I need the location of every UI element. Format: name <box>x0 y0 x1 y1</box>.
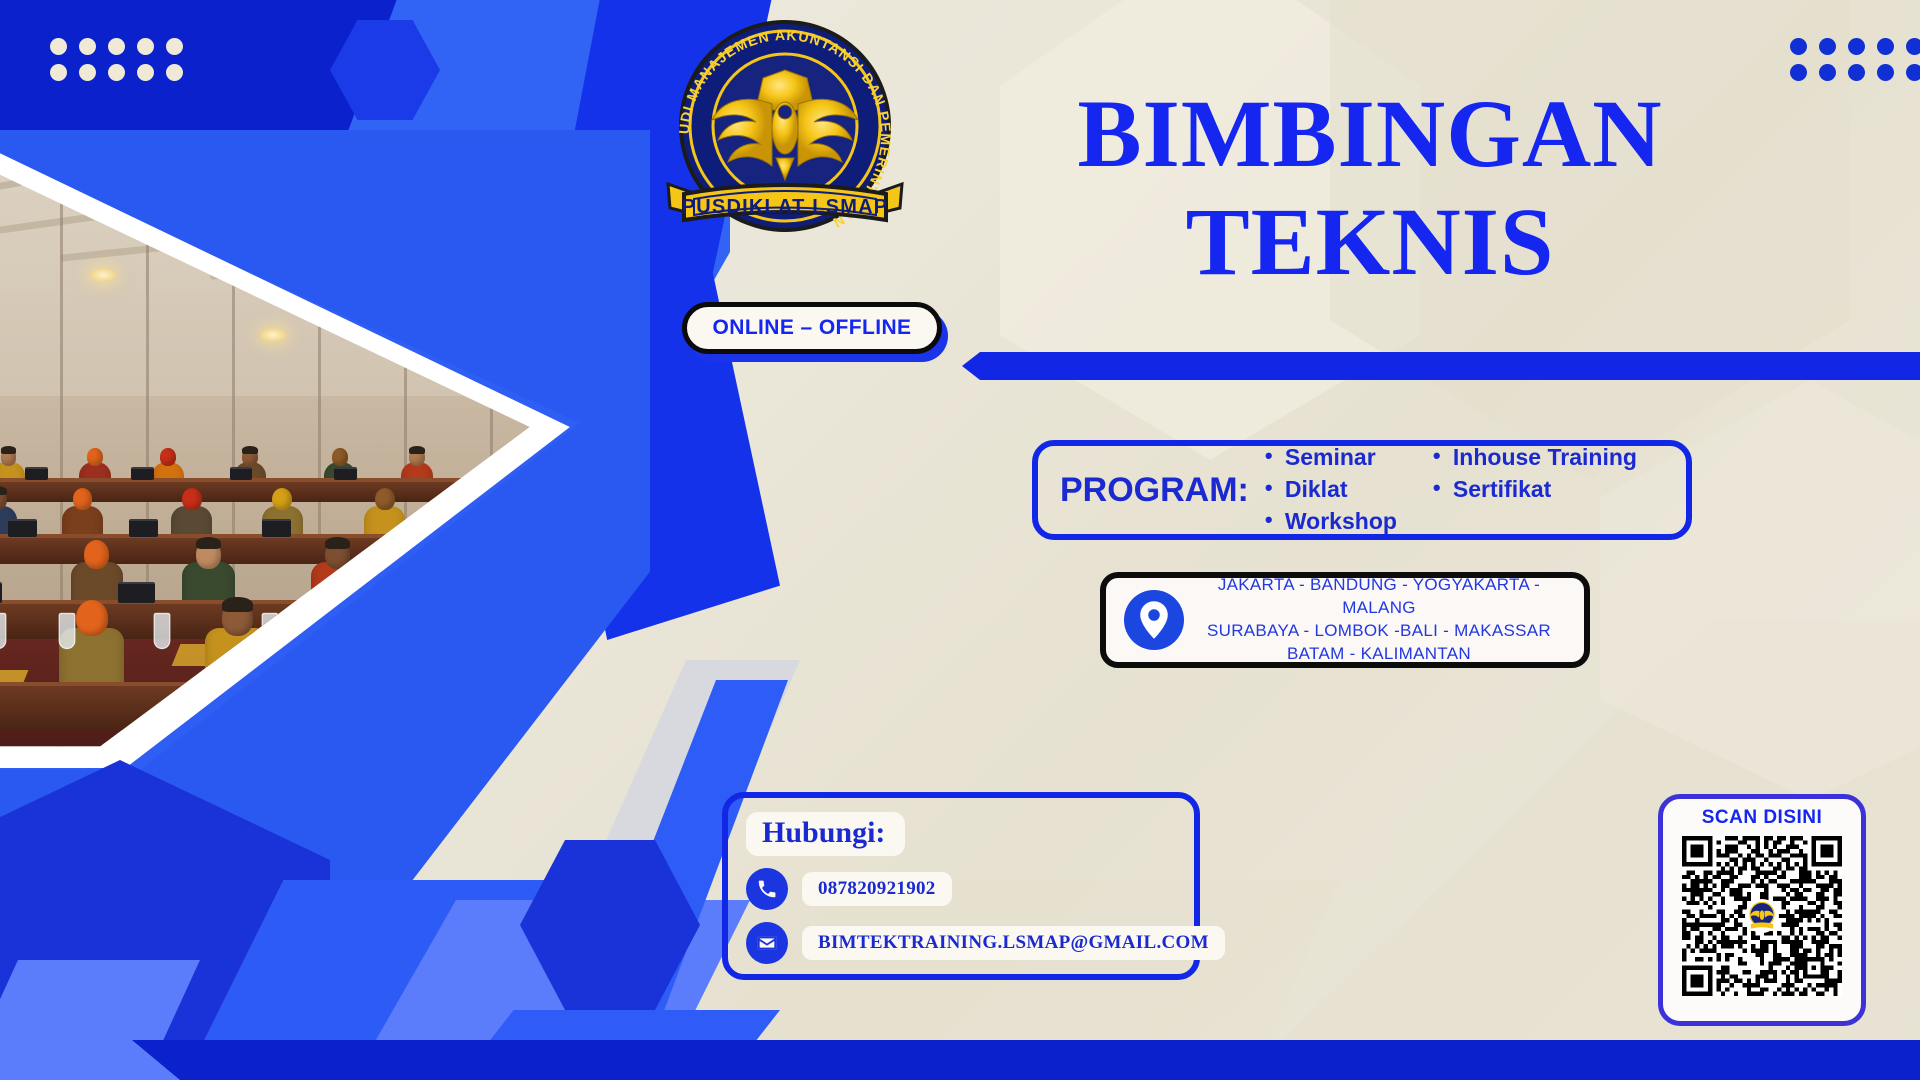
poster-canvas: LEMBAGA STUDI MANAJEMEN AKUNTANSI DAN PE… <box>0 0 1920 1080</box>
laptop <box>0 582 2 604</box>
pusdiklat-lsmap-logo: LEMBAGA STUDI MANAJEMEN AKUNTANSI DAN PE… <box>650 8 920 238</box>
program-item: Workshop <box>1265 506 1397 538</box>
dot-grid-left <box>50 38 183 81</box>
program-column-1: Seminar Diklat Workshop <box>1265 442 1397 537</box>
contact-email-row[interactable]: BIMTEKTRAINING.LSMAP@GMAIL.COM <box>746 922 1194 964</box>
drinking-glass <box>154 613 171 649</box>
envelope-icon <box>746 922 788 964</box>
laptop <box>131 467 154 481</box>
drinking-glass <box>0 613 6 649</box>
phone-icon <box>746 868 788 910</box>
title-underline-bar <box>962 352 1920 380</box>
program-lists: Seminar Diklat Workshop Inhouse Training… <box>1265 442 1637 537</box>
mode-badge[interactable]: ONLINE – OFFLINE <box>682 302 942 354</box>
attendee-head <box>73 488 93 510</box>
phone-number[interactable]: 087820921902 <box>802 872 952 906</box>
program-box: PROGRAM: Seminar Diklat Workshop Inhouse… <box>1032 440 1692 540</box>
qr-card[interactable]: SCAN DISINI <box>1658 794 1866 1026</box>
attendee-head <box>87 448 103 466</box>
attendee-hair <box>325 537 350 549</box>
attendee-hair <box>196 537 221 549</box>
laptop <box>25 467 48 481</box>
locations-text: JAKARTA - BANDUNG - YOGYAKARTA - MALANG … <box>1184 574 1584 666</box>
laptop <box>334 467 357 481</box>
program-label: PROGRAM: <box>1060 471 1249 510</box>
mode-badge-label: ONLINE – OFFLINE <box>713 316 912 340</box>
drinking-glass <box>58 613 75 649</box>
title-line-2: TEKNIS <box>1020 188 1720 296</box>
laptop <box>262 519 291 536</box>
contact-heading-chip: Hubungi: <box>746 812 905 856</box>
program-item: Sertifikat <box>1433 474 1637 506</box>
locations-line-1: JAKARTA - BANDUNG - YOGYAKARTA - MALANG <box>1184 574 1574 620</box>
program-item: Diklat <box>1265 474 1397 506</box>
locations-box: JAKARTA - BANDUNG - YOGYAKARTA - MALANG … <box>1100 572 1590 668</box>
qr-caption: SCAN DISINI <box>1702 807 1823 829</box>
program-column-2: Inhouse Training Sertifikat <box>1433 442 1637 537</box>
location-pin-icon <box>1124 590 1184 650</box>
contact-box: Hubungi: 087820921902 BIMTEKTRAINING.LSM… <box>722 792 1200 980</box>
locations-line-2: SURABAYA - LOMBOK -BALI - MAKASSAR <box>1184 620 1574 643</box>
attendee-hair <box>409 446 425 453</box>
contact-heading: Hubungi: <box>762 816 885 849</box>
program-item: Seminar <box>1265 442 1397 474</box>
attendee-hair <box>242 446 258 453</box>
ceiling-light <box>260 328 286 342</box>
page-title: BIMBINGAN TEKNIS <box>1020 80 1720 295</box>
attendee-hair <box>0 486 7 495</box>
attendee-head <box>375 488 395 510</box>
attendee-head <box>332 448 348 466</box>
locations-line-3: BATAM - KALIMANTAN <box>1184 643 1574 666</box>
attendee-hair <box>222 597 254 612</box>
laptop <box>230 467 253 481</box>
attendee-head <box>76 600 108 636</box>
attendee-head <box>160 448 176 466</box>
title-line-1: BIMBINGAN <box>1077 80 1662 187</box>
attendee-head <box>182 488 202 510</box>
left-graphic-cluster <box>0 0 760 1080</box>
contact-phone-row[interactable]: 087820921902 <box>746 868 1194 910</box>
bottom-blue-bar <box>0 1040 1920 1080</box>
laptop <box>129 519 158 536</box>
mode-badge-body: ONLINE – OFFLINE <box>682 302 942 354</box>
attendee-hair <box>1 446 17 453</box>
laptop <box>118 582 155 604</box>
laptop <box>8 519 37 536</box>
dot-grid-right <box>1790 38 1920 81</box>
attendee-head <box>272 488 292 510</box>
email-address[interactable]: BIMTEKTRAINING.LSMAP@GMAIL.COM <box>802 926 1225 960</box>
qr-code[interactable] <box>1682 836 1842 996</box>
attendee-head <box>84 540 109 569</box>
program-item: Inhouse Training <box>1433 442 1637 474</box>
qr-center-logo-icon <box>1745 899 1779 933</box>
logo-banner-text: PUSDIKLAT LSMAP <box>682 196 889 218</box>
ceiling-light <box>90 268 116 282</box>
